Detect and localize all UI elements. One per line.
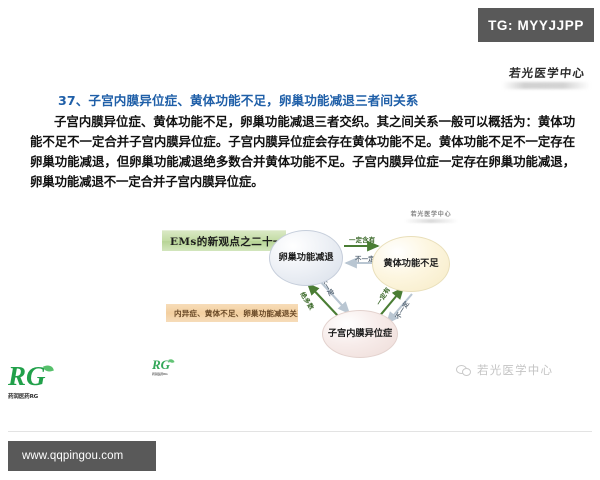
arrow-label-ems-to-ovary: 绝多数 — [298, 290, 316, 312]
seal-watermark: 若光医学中心 — [500, 60, 594, 86]
url-watermark-bar: www.qqpingou.com — [8, 441, 156, 471]
watermark-smear — [404, 219, 458, 223]
wechat-credit-text: 若光医学中心 — [477, 362, 553, 378]
telegram-badge-text: TG: MYYJJPP — [488, 18, 584, 33]
rg-logo-small: RG 药润医药RG — [152, 358, 180, 380]
node-endometriosis: 子宫内膜异位症 — [322, 310, 398, 358]
node-ovarian-decline: 卵巢功能减退 — [269, 230, 343, 286]
arrow-label-ems-to-luteal: 一定有 — [374, 285, 392, 307]
arrow-label-ovary-to-luteal: 一定含有 — [349, 235, 375, 244]
rg-logo: RG 药润医药RG — [8, 363, 60, 407]
seal-watermark-text: 若光医学中心 — [508, 65, 586, 81]
wechat-bubble-front — [462, 368, 471, 376]
diagram-subtitle-text: 内异症、黄体不足、卵巢功能减退关系 — [174, 308, 298, 319]
diagram-title-banner: EMs的新观点之二十一 — [162, 230, 286, 251]
body-paragraph: 子宫内膜异位症、黄体功能不足，卵巢功能减退三者交织。其之间关系一般可以概括为：黄… — [30, 112, 575, 192]
diagram-subtitle-banner: 内异症、黄体不足、卵巢功能减退关系 — [166, 304, 298, 322]
url-watermark-text: www.qqpingou.com — [22, 450, 123, 462]
figure-watermark-text: 若光医学中心 — [411, 211, 452, 218]
telegram-badge: TG: MYYJJPP — [478, 8, 594, 42]
rg-logo-small-subtitle: 药润医药RG — [152, 372, 180, 376]
page-title: 37、子宫内膜异位症、黄体功能不足，卵巢功能减退三者间关系 — [58, 90, 558, 109]
node-luteal-insufficiency: 黄体功能不足 — [372, 236, 450, 292]
relationship-diagram: 若光医学中心 EMs的新观点之二十一 内异症、黄体不足、卵巢功能减退关系 — [150, 206, 470, 358]
rg-logo-small-mark: RG — [152, 358, 180, 371]
page-divider — [8, 431, 592, 432]
diagram-title-text: EMs的新观点之二十一 — [170, 234, 284, 249]
rg-logo-subtitle: 药润医药RG — [8, 392, 60, 400]
wechat-credit: 若光医学中心 — [456, 362, 553, 378]
wechat-icon — [456, 364, 472, 377]
seal-smear — [502, 82, 590, 89]
arrow-label-luteal-to-ems: 不一定 — [393, 299, 411, 321]
figure-watermark: 若光医学中心 — [400, 209, 462, 223]
